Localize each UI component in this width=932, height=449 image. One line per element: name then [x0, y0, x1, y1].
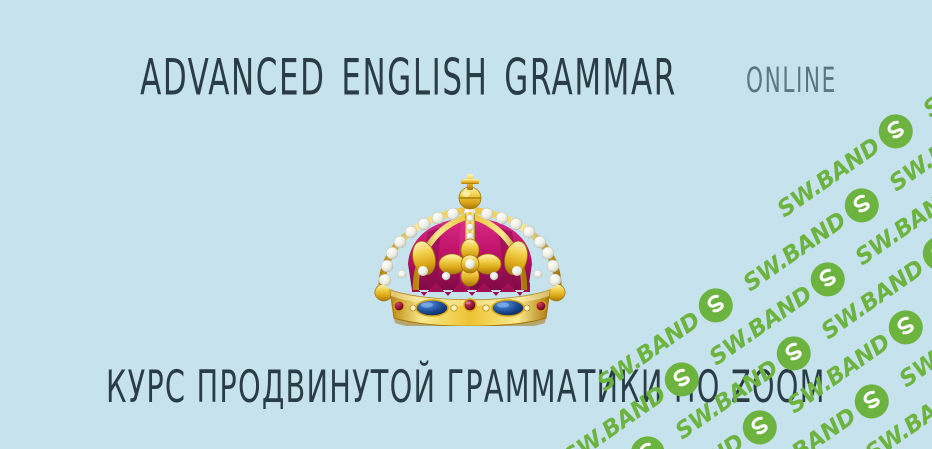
watermark-text: SW.BAND [773, 133, 885, 222]
watermark-tile: SW.BAND [703, 256, 852, 374]
watermark-tile: SW.BAND [927, 204, 932, 322]
watermark-tile: SW.BAND [771, 108, 920, 226]
title-row: Advanced English GrammarONLINE [0, 44, 932, 106]
watermark-logo-icon [804, 256, 851, 303]
watermark-logo-icon [838, 182, 885, 229]
watermark-text: SW.BAND [739, 207, 851, 296]
page-title: Advanced English Grammar [140, 34, 677, 106]
subtitle-row: курс продвинутой грамматики по ZOOM [0, 370, 932, 410]
watermark-tile: SW.BAND [737, 182, 886, 300]
crown-icon [366, 172, 574, 326]
subtitle: курс продвинутой грамматики по ZOOM [106, 365, 826, 410]
watermark-tile: SW.BAND [815, 230, 932, 348]
watermark-logo-icon [624, 430, 671, 449]
title-online-badge: ONLINE [746, 64, 837, 99]
watermark-logo-icon [692, 282, 739, 329]
watermark-logo-icon [882, 304, 929, 351]
watermark-tile: SW.BAND [849, 156, 932, 274]
watermark-text: SW.BAND [637, 429, 749, 449]
watermark-tile: SW.BAND [523, 430, 672, 449]
watermark-text: SW.BAND [705, 281, 817, 370]
watermark-logo-icon [916, 230, 932, 277]
watermark-tile: SW.BAND [825, 426, 932, 449]
watermark-text: SW.BAND [851, 181, 932, 270]
watermark-text: SW.BAND [817, 255, 929, 344]
watermark-text: SW.BAND [885, 107, 932, 196]
watermark-logo-icon [872, 108, 919, 155]
watermark-logo-icon [926, 426, 932, 449]
poster-canvas: Advanced English GrammarONLINE [0, 0, 932, 449]
